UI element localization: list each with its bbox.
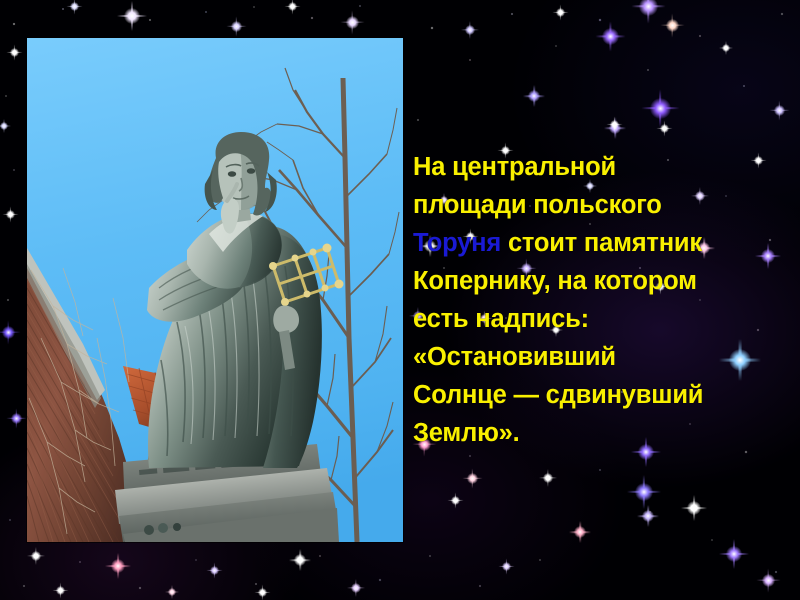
copernicus-monument-photo: [27, 38, 403, 542]
caption-line: площади польского: [413, 186, 788, 224]
caption-line: Солнце — сдвинувший: [413, 376, 788, 414]
caption-text: Землю».: [413, 419, 520, 447]
presentation-slide: На центральнойплощади польскогоТоруня ст…: [0, 0, 800, 600]
caption-line: На центральной: [413, 148, 788, 186]
caption-text: есть надпись:: [413, 305, 589, 333]
caption-text: Солнце — сдвинувший: [413, 381, 703, 409]
caption-line: есть надпись:: [413, 300, 788, 338]
caption-highlight-word: Торуня: [413, 229, 501, 257]
caption-text: Копернику, на котором: [413, 267, 697, 295]
caption-text-block: На центральнойплощади польскогоТоруня ст…: [413, 148, 788, 452]
caption-line: Землю».: [413, 414, 788, 452]
caption-text: На центральной: [413, 153, 616, 181]
caption-line: Торуня стоит памятник: [413, 224, 788, 262]
caption-text: «Остановивший: [413, 343, 616, 371]
caption-line: Копернику, на котором: [413, 262, 788, 300]
photo-content: [27, 38, 403, 542]
monument-illustration: [27, 38, 403, 542]
caption-line: «Остановивший: [413, 338, 788, 376]
caption-text: площади польского: [413, 191, 662, 219]
caption-text: стоит памятник: [501, 229, 702, 257]
